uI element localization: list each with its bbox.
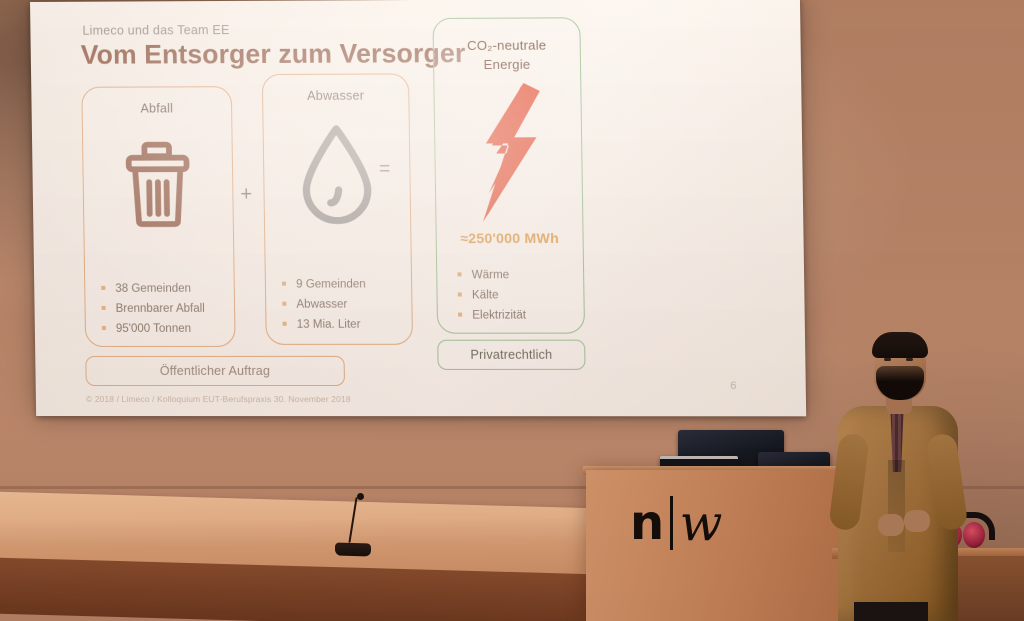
trash-bin-icon: [121, 135, 195, 231]
slide-number: 6: [730, 380, 736, 392]
card-energie-heading: CO₂-neutrale Energie: [434, 36, 580, 75]
lightning-bolt-icon: [471, 83, 548, 224]
water-drop-icon: [296, 121, 378, 226]
logo-letter-w: w: [680, 498, 723, 548]
list-item: 9 Gemeinden: [282, 275, 411, 295]
pill-oeffentlicher-auftrag: Öffentlicher Auftrag: [85, 356, 345, 386]
presenter-eye-right: [906, 358, 913, 361]
presenter-hand-right: [904, 510, 930, 532]
card-energie: CO₂-neutrale Energie ≈250'000 MWh Wärme …: [432, 17, 585, 333]
headphones-earcup-right: [963, 522, 985, 548]
presenter-cardigan-placket: [888, 460, 905, 552]
slide-title: Vom Entsorger zum Versorger: [81, 38, 466, 71]
microphone-base: [335, 543, 371, 557]
fhnw-logo: n w: [630, 496, 722, 550]
card-energie-bullets: Wärme Kälte Elektrizität: [457, 266, 584, 326]
lecture-hall-scene: Limeco und das Team EE Vom Entsorger zum…: [0, 0, 1024, 621]
equals-operator: =: [379, 159, 391, 181]
card-abwasser-heading: Abwasser: [263, 88, 408, 103]
plus-operator: +: [240, 183, 252, 206]
card-abwasser-bullets: 9 Gemeinden Abwasser 13 Mia. Liter: [282, 275, 412, 335]
pill-label: Privatrechtlich: [470, 348, 552, 362]
list-item: 38 Gemeinden: [101, 280, 234, 300]
slide-footer: © 2018 / Limeco / Kolloquium EUT-Berufsp…: [86, 394, 351, 404]
presenter-hair: [872, 332, 928, 358]
card-abfall: Abfall 38 Gemeinden Brennbarer Abfall 95…: [81, 86, 235, 347]
logo-letter-n: n: [630, 499, 663, 547]
presenter-eye-left: [884, 358, 891, 361]
card-abfall-heading: Abfall: [83, 101, 232, 116]
list-item: Wärme: [457, 266, 583, 286]
slide-canvas: Limeco und das Team EE Vom Entsorger zum…: [30, 0, 806, 416]
list-item: 95'000 Tonnen: [102, 319, 235, 339]
presenter-trousers: [854, 602, 928, 621]
pill-label: Öffentlicher Auftrag: [160, 364, 271, 378]
list-item: 13 Mia. Liter: [282, 315, 411, 335]
energy-metric: ≈250'000 MWh: [437, 230, 583, 246]
presenter: [836, 330, 962, 621]
card-abfall-bullets: 38 Gemeinden Brennbarer Abfall 95'000 To…: [101, 280, 234, 340]
slide-eyebrow: Limeco und das Team EE: [82, 23, 229, 38]
list-item: Abwasser: [282, 295, 411, 315]
pill-privatrechtlich: Privatrechtlich: [437, 340, 585, 370]
card-abwasser: Abwasser 9 Gemeinden Abwasser 13 Mia. Li…: [262, 73, 413, 344]
projection-screen: Limeco und das Team EE Vom Entsorger zum…: [30, 0, 806, 416]
presenter-hand-left: [878, 514, 904, 536]
list-item: Brennbarer Abfall: [101, 300, 234, 320]
logo-divider: [670, 496, 673, 550]
microphone-capsule: [357, 493, 364, 500]
list-item: Kälte: [458, 286, 584, 306]
list-item: Elektrizität: [458, 306, 584, 326]
